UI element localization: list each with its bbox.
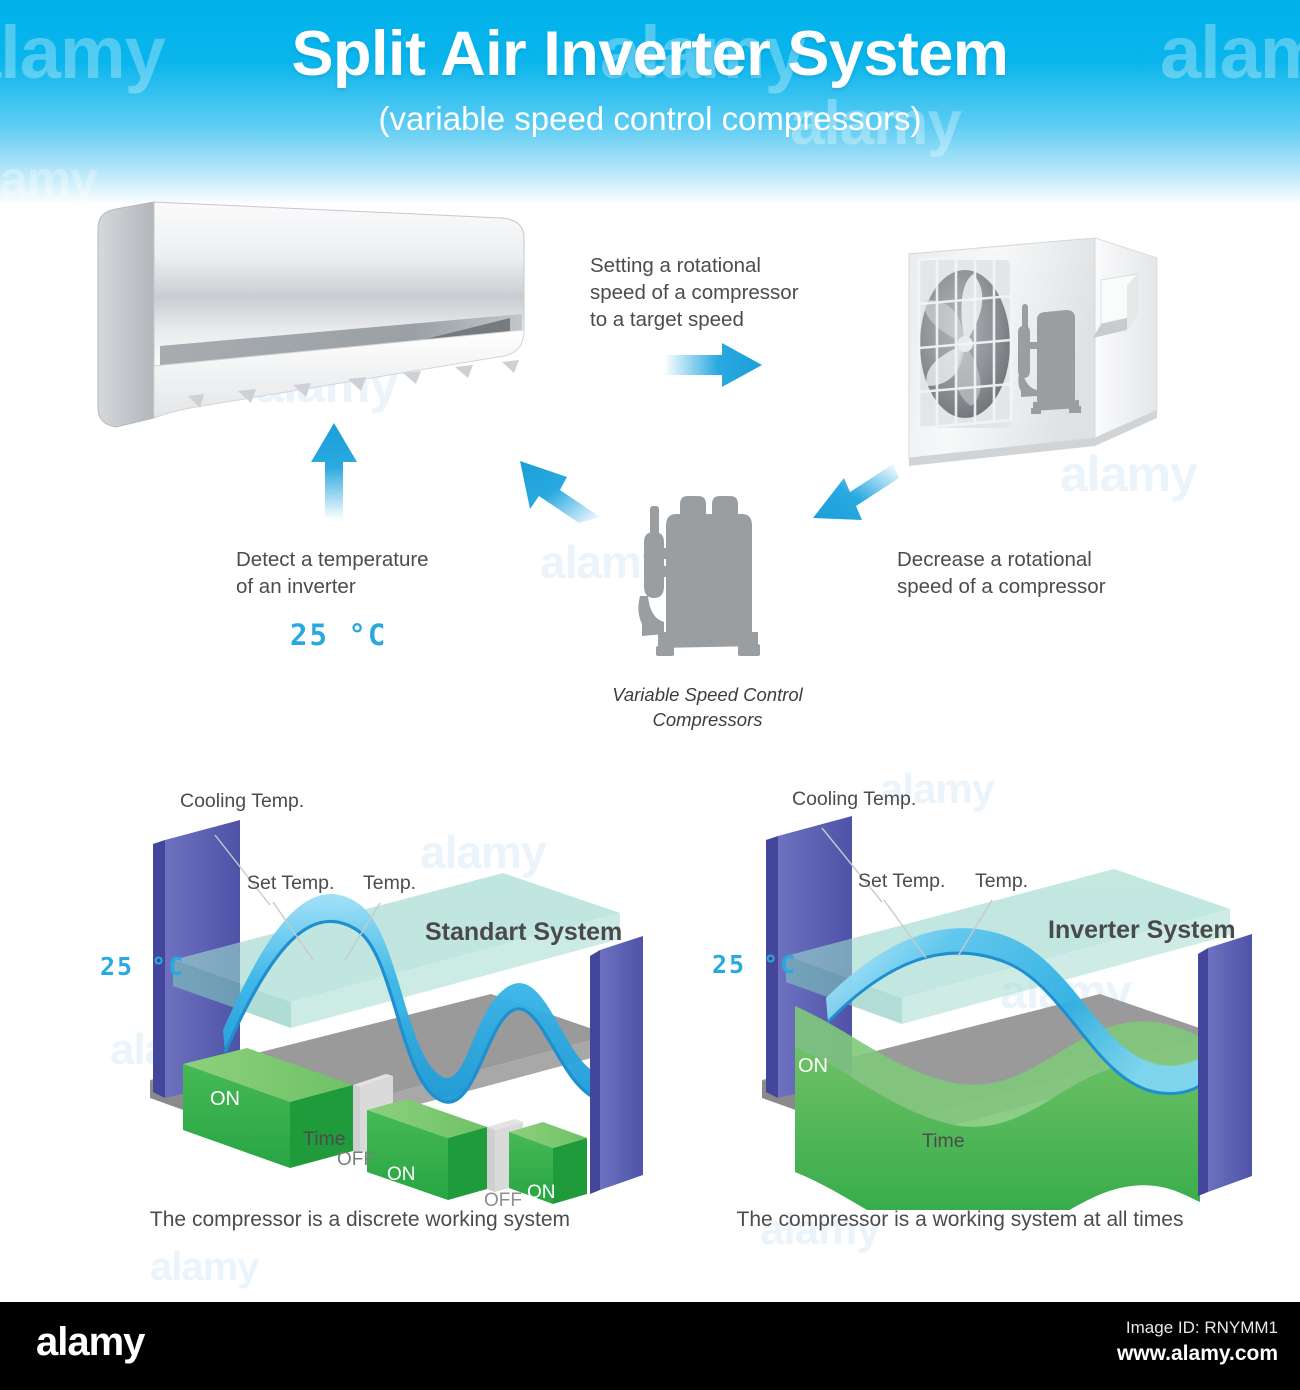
annotation-temp: Temp. [975, 870, 1028, 893]
compressor-port-right [712, 496, 738, 514]
label-line: Detect a temperature [236, 546, 496, 573]
compressor-foot-right [738, 644, 760, 656]
compressor-accumulator [644, 532, 664, 598]
compressor-caption: Variable Speed Control Compressors [600, 682, 815, 732]
block-label-on-1: ON [210, 1088, 240, 1110]
label-decrease-speed: Decrease a rotational speed of a compres… [897, 546, 1177, 600]
compressor-body [666, 514, 752, 642]
image-id-text: Image ID: RNYMM1 [1126, 1318, 1278, 1338]
caption-standart-system: The compressor is a discrete working sys… [60, 1208, 660, 1232]
label-line: to a target speed [590, 306, 840, 333]
block-label-on: ON [798, 1055, 828, 1077]
caption-line: Compressors [600, 707, 815, 732]
chart-xaxis-label: Time [303, 1128, 346, 1151]
annotation-temp: Temp. [363, 872, 416, 895]
compressor-link-upper [656, 548, 682, 559]
label-line: speed of a compressor [590, 279, 840, 306]
alamy-logo: alamy [36, 1320, 144, 1365]
arrow-up-detect-temperature [311, 423, 357, 520]
watermark-text: alamy [150, 1245, 258, 1290]
chart-axis-value-left: 25 °C [712, 950, 797, 979]
caption-line: Variable Speed Control [600, 682, 815, 707]
variable-speed-compressor-icon [620, 480, 790, 670]
label-setting-speed: Setting a rotational speed of a compress… [590, 252, 840, 333]
annotation-set-temp: Set Temp. [858, 870, 945, 893]
caption-inverter-system: The compressor is a working system at al… [650, 1208, 1270, 1232]
chart-xaxis-label: Time [922, 1130, 965, 1153]
arrow-right-setting-speed [664, 343, 762, 387]
block-label-off-1: OFF [337, 1149, 375, 1170]
annotation-set-temp: Set Temp. [247, 872, 334, 895]
compressor-port-left [680, 496, 706, 514]
compressor-discharge-pipe [638, 596, 664, 636]
chart-title-inverter: Inverter System [1048, 916, 1236, 945]
annotation-cooling-temp: Cooling Temp. [180, 790, 304, 813]
annotation-cooling-temp: Cooling Temp. [792, 788, 916, 811]
arrow-up-left-feedback [520, 461, 600, 523]
chart-title-standart: Standart System [425, 918, 622, 947]
chart-block-on-2 [367, 1099, 487, 1200]
chart-wall-right [600, 936, 643, 1190]
website-url[interactable]: www.alamy.com [1117, 1342, 1278, 1366]
chart-axis-value-left: 25 °C [100, 952, 185, 981]
footer-bar: alamy Image ID: RNYMM1 www.alamy.com [0, 1302, 1300, 1390]
infographic-page: alamyalamyalamyalamyalamy Split Air Inve… [0, 0, 1300, 1390]
label-line: Decrease a rotational [897, 546, 1177, 573]
chart-wall-right-edge [1198, 948, 1208, 1196]
block-label-off-2: OFF [484, 1190, 522, 1210]
chart-standart-system: ON OFF ON OFF ON Cooling Temp. Set Temp.… [95, 780, 675, 1210]
detected-temperature-value: 25 °C [290, 618, 387, 652]
chart-wall-right [1208, 934, 1252, 1192]
arrow-down-left-decrease-speed [813, 464, 899, 520]
label-line: of an inverter [236, 573, 496, 600]
compressor-foot-left [656, 646, 674, 656]
chart-inverter-system: ON Cooling Temp. Set Temp. Temp. Inverte… [700, 780, 1280, 1210]
label-detect-temperature: Detect a temperature of an inverter [236, 546, 496, 600]
block-label-on-2: ON [387, 1164, 416, 1185]
label-line: speed of a compressor [897, 573, 1177, 600]
block-label-on-3: ON [527, 1182, 556, 1203]
label-line: Setting a rotational [590, 252, 840, 279]
chart-wall-right-edge [590, 950, 600, 1194]
compressor-link-lower [656, 566, 682, 577]
